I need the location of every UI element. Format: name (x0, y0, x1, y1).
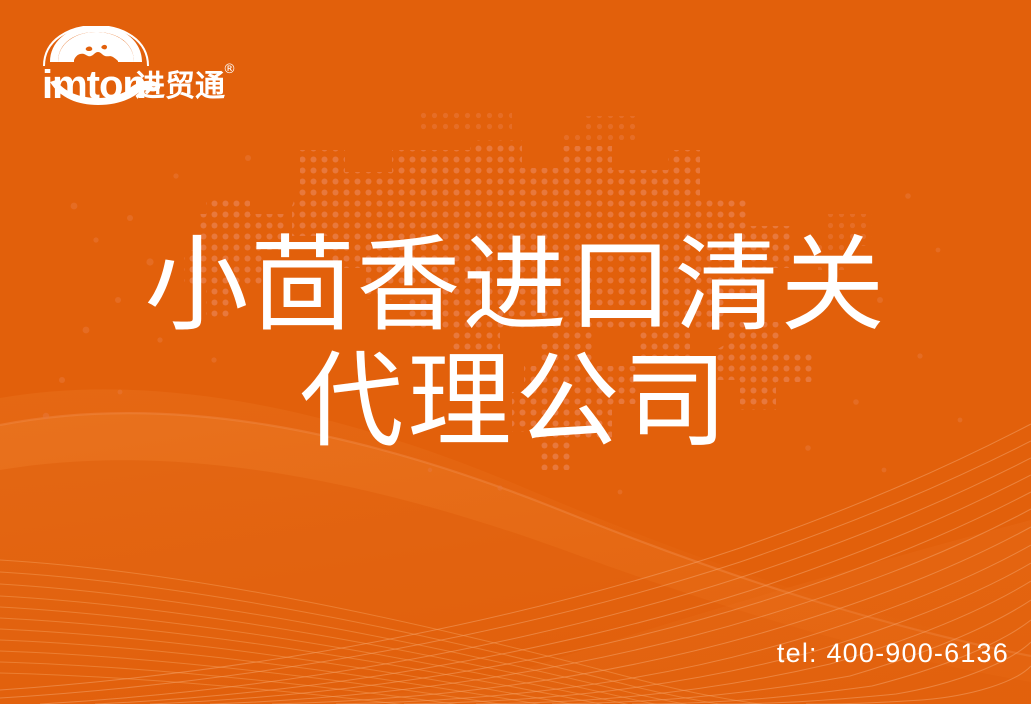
globe-arc-icon (44, 26, 148, 66)
trademark-symbol: ® (223, 62, 236, 77)
contact-telephone[interactable]: tel: 400-900-6136 (777, 638, 1009, 669)
brand-logo[interactable]: imton 进贸通 ® (34, 26, 274, 106)
logo-wordmark-cn: 进贸通 (135, 69, 225, 104)
logo-wordmark-latin: imton (42, 63, 146, 106)
headline: 小茴香进口清关 代理公司 (0, 228, 1031, 460)
promo-banner: imton 进贸通 ® 小茴香进口清关 代理公司 tel: 400-900-61… (0, 0, 1031, 704)
headline-line-1: 小茴香进口清关 (0, 228, 1031, 344)
wave-band-lower-right (0, 520, 1031, 704)
logo-svg: imton 进贸通 ® (34, 26, 274, 106)
hairline-fan-bottom (0, 560, 1031, 704)
headline-line-2: 代理公司 (0, 344, 1031, 460)
